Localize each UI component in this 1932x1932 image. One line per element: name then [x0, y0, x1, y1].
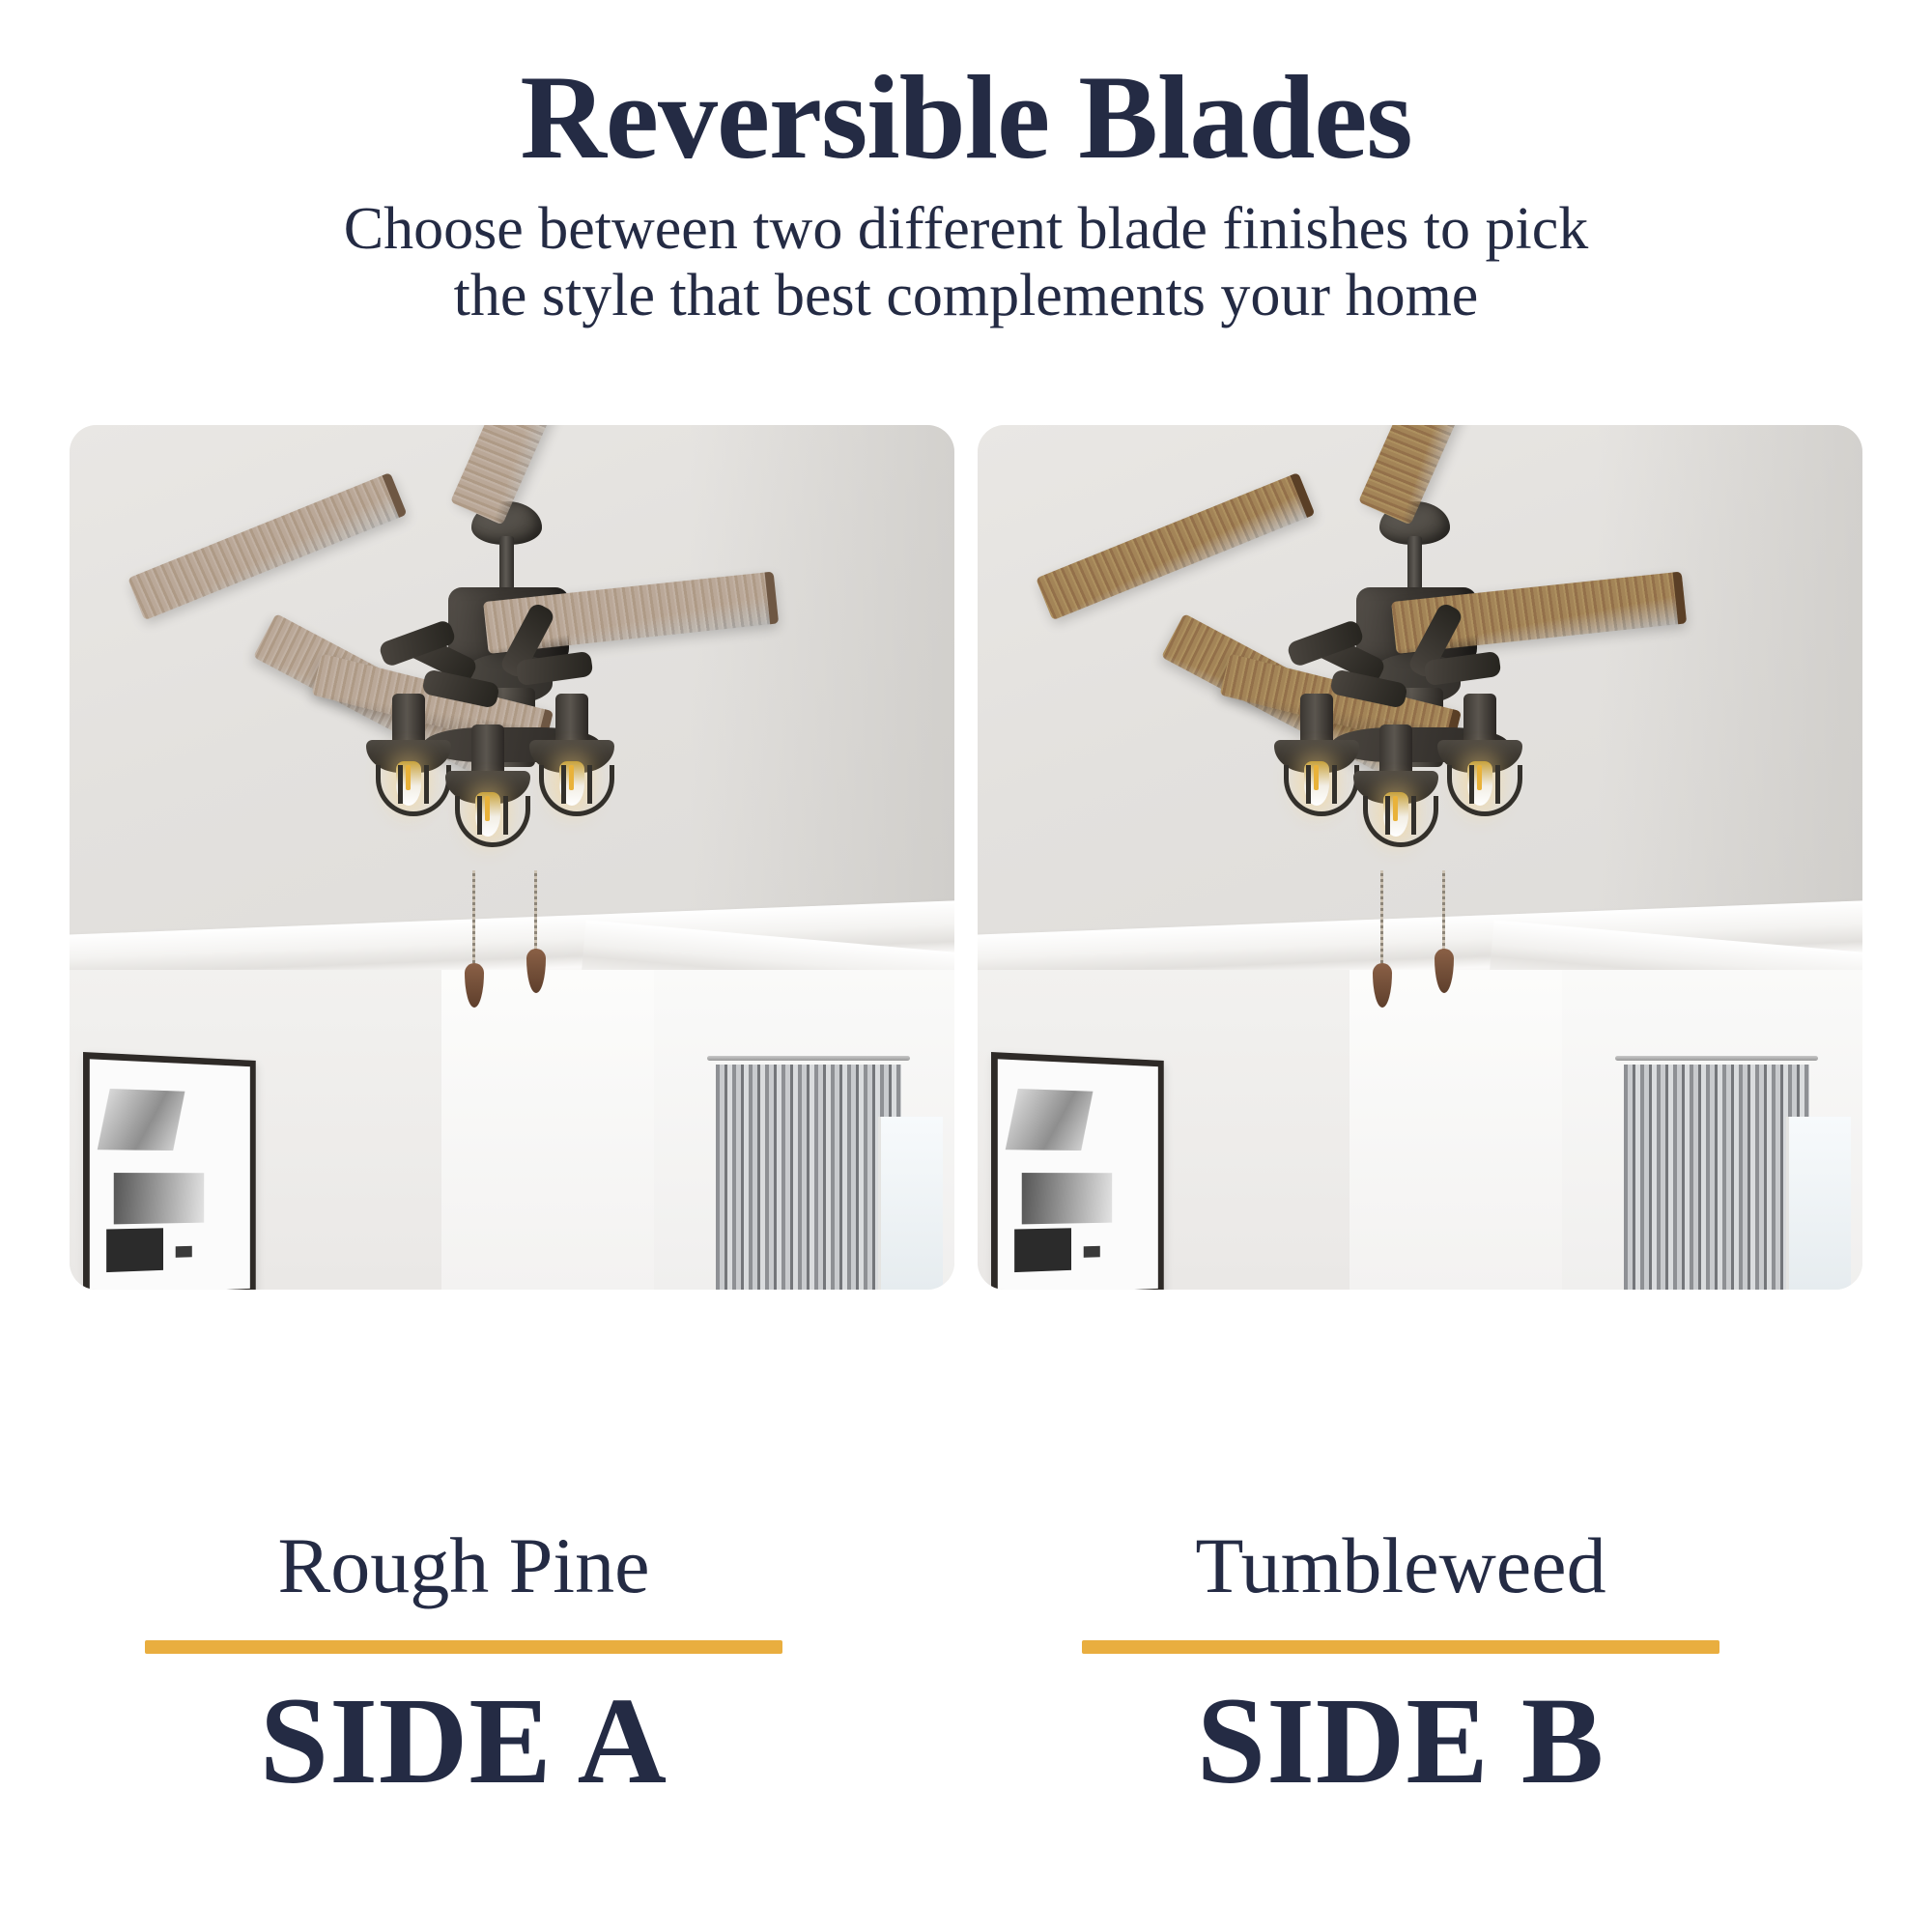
lamp-cage	[1363, 796, 1438, 847]
comparison-photo-row	[0, 425, 1932, 1294]
caged-light-fixture	[1437, 694, 1522, 821]
side-label-b: SIDE B	[976, 1679, 1826, 1803]
framed-artwork	[991, 1052, 1164, 1290]
fan-blade	[128, 471, 407, 620]
pull-chain[interactable]	[1442, 870, 1445, 953]
lamp-cage	[539, 765, 614, 816]
page-title: Reversible Blades	[0, 56, 1932, 181]
gold-divider-side-a	[145, 1640, 782, 1654]
lamp-cage	[1284, 765, 1359, 816]
caged-light-fixture	[445, 724, 530, 852]
wall-middle	[1350, 970, 1579, 1290]
lamp-cage	[376, 765, 451, 816]
wall-middle	[441, 970, 671, 1290]
framed-artwork	[83, 1052, 256, 1290]
photo-card-side-a[interactable]	[70, 425, 954, 1290]
curtain-rod	[1615, 1056, 1819, 1061]
gold-divider-side-b	[1082, 1640, 1719, 1654]
photo-card-side-b[interactable]	[978, 425, 1862, 1290]
lamp-cage	[1447, 765, 1522, 816]
pull-chain-finial[interactable]	[526, 949, 546, 993]
lamp-cage	[455, 796, 530, 847]
window	[1786, 1117, 1851, 1290]
label-row: Rough Pine SIDE A Tumbleweed SIDE B	[0, 1526, 1932, 1932]
caged-light-fixture	[1274, 694, 1359, 821]
curtains	[1624, 1065, 1809, 1290]
reversible-blades-infographic: Reversible Blades Choose between two dif…	[0, 0, 1932, 1932]
fan-blade	[1036, 471, 1315, 620]
side-label-a: SIDE A	[39, 1679, 889, 1803]
window	[878, 1117, 943, 1290]
caged-light-fixture	[1353, 724, 1438, 852]
subtitle-line-1: Choose between two different blade finis…	[213, 196, 1719, 263]
pull-chain-finial[interactable]	[1435, 949, 1454, 993]
label-column-side-a: Rough Pine SIDE A	[39, 1526, 889, 1803]
pull-chain[interactable]	[1380, 870, 1383, 967]
header: Reversible Blades Choose between two dif…	[0, 56, 1932, 330]
page-subtitle: Choose between two different blade finis…	[213, 196, 1719, 330]
pull-chain[interactable]	[534, 870, 537, 953]
curtain-rod	[707, 1056, 911, 1061]
caged-light-fixture	[366, 694, 451, 821]
ceiling-fan-side-b	[978, 425, 1862, 996]
finish-name-side-a: Rough Pine	[39, 1526, 889, 1605]
pull-chain[interactable]	[472, 870, 475, 967]
ceiling-fan-side-a	[70, 425, 954, 996]
caged-light-fixture	[529, 694, 614, 821]
finish-name-side-b: Tumbleweed	[976, 1526, 1826, 1605]
curtains	[716, 1065, 901, 1290]
subtitle-line-2: the style that best complements your hom…	[213, 263, 1719, 329]
label-column-side-b: Tumbleweed SIDE B	[976, 1526, 1826, 1803]
